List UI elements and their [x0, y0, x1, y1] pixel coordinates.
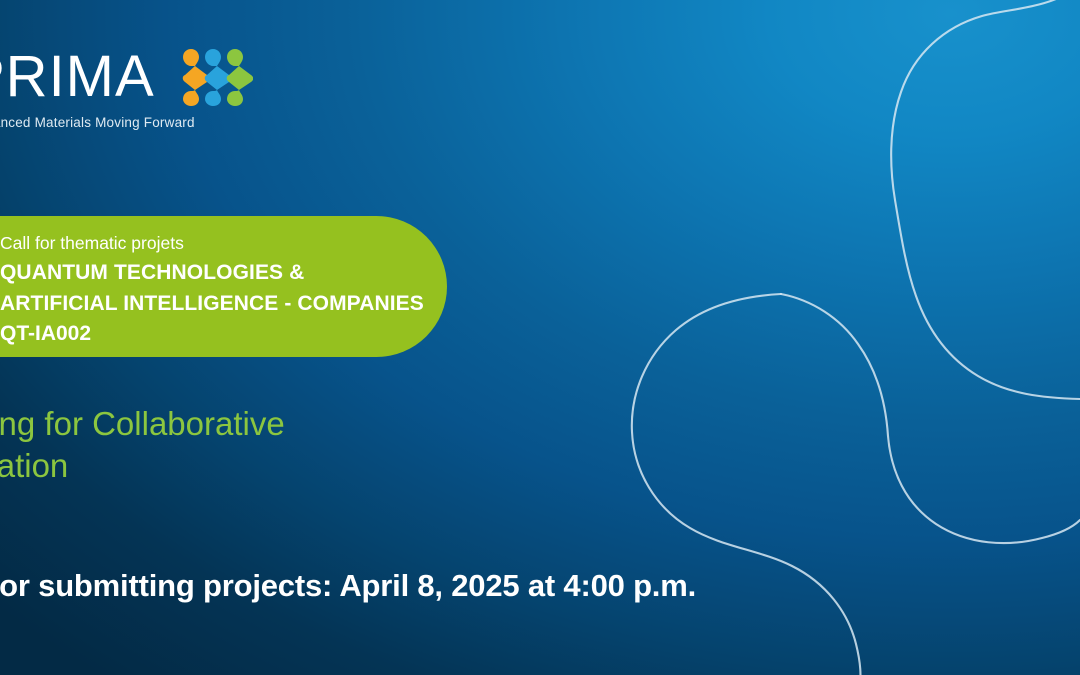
curve-lower-loop	[632, 294, 861, 675]
promotional-banner: PRIMA Advanced Materials Moving Forward …	[0, 0, 1080, 675]
subtitle-line-1: Funding for Collaborative	[0, 403, 285, 445]
subtitle-line-2: Innovation	[0, 445, 285, 487]
banner-title-line-2: ARTIFICIAL INTELLIGENCE - COMPANIES	[0, 290, 447, 318]
logo-tagline: Advanced Materials Moving Forward	[0, 115, 253, 130]
logo-row: PRIMA	[0, 48, 253, 106]
curve-lower-right	[781, 294, 1080, 543]
call-banner: Call for thematic projets QUANTUM TECHNO…	[0, 216, 447, 357]
prima-chevron-nodes-logo-icon	[173, 48, 253, 106]
banner-program-code: QT-IA002	[0, 321, 447, 346]
banner-kicker: Call for thematic projets	[0, 233, 447, 255]
brand-logo: PRIMA Advanced Materials Moving Forward	[0, 48, 253, 130]
subtitle: Funding for Collaborative Innovation	[0, 403, 285, 486]
curve-upper-right	[891, 0, 1080, 399]
logo-wordmark: PRIMA	[0, 48, 155, 106]
deadline-text: Deadline for submitting projects: April …	[0, 568, 696, 604]
banner-title-line-1: QUANTUM TECHNOLOGIES &	[0, 259, 447, 287]
